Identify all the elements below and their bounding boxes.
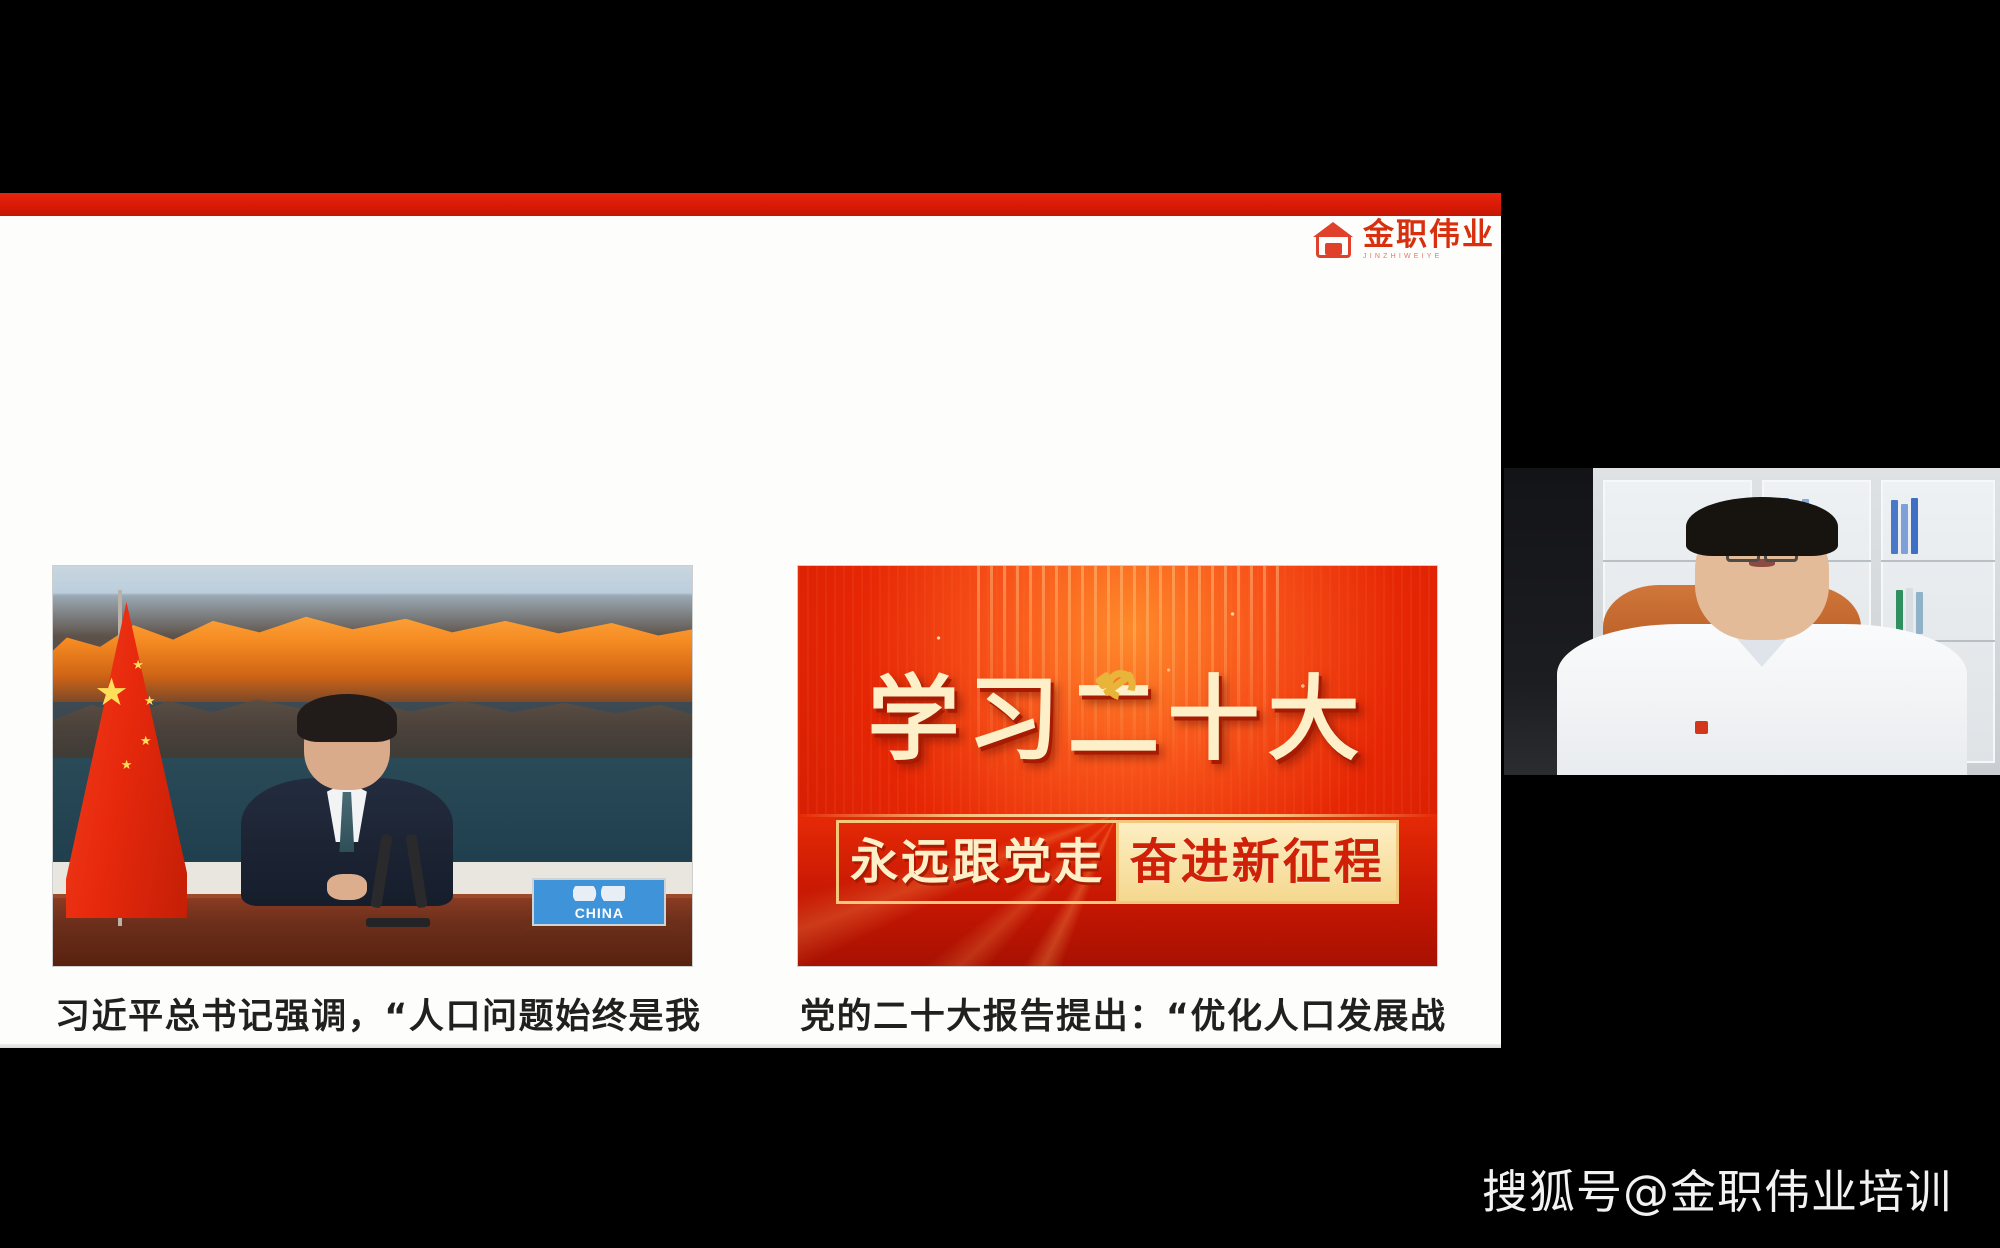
left-caption-text: 习近平总书记强调，“人口问题始终是我国面临的全局性、长期性、战略性问题。” [55, 993, 700, 1048]
screen-root: 金职伟业 JINZHIWEIYE ★ ★ ★ ★ ★ [0, 0, 2000, 1248]
poster-banner: 永远跟党走 奋进新征程 [836, 820, 1398, 904]
nameplate-label: CHINA [575, 905, 624, 924]
brand-logo-text: 金职伟业 JINZHIWEIYE [1363, 219, 1495, 260]
right-caption-text: 党的二十大报告提出：“优化人口发展战略，建立生育支持政策体系，降低生育、养育、教… [800, 993, 1445, 1048]
brand-name-cn: 金职伟业 [1363, 219, 1495, 250]
brand-logo: 金职伟业 JINZHIWEIYE [1313, 219, 1495, 260]
slide-left-column: ★ ★ ★ ★ ★ [52, 565, 693, 967]
left-caption-segment-0: 习近平总书记强调，“人口问题始终是我国面临的 [55, 997, 700, 1048]
party-hammer-sickle-emblem-icon [1095, 661, 1147, 713]
house-logo-icon [1313, 222, 1354, 258]
slide-bottom-edge [0, 1044, 1501, 1048]
presentation-slide: 金职伟业 JINZHIWEIYE ★ ★ ★ ★ ★ [0, 193, 1501, 1048]
brand-name-en: JINZHIWEIYE [1363, 253, 1495, 260]
slide-top-accent-bar [0, 193, 1501, 216]
presenter-figure [1643, 505, 1881, 775]
poster-banner-left: 永远跟党走 [836, 820, 1116, 904]
presenter-webcam-feed[interactable] [1504, 468, 2000, 775]
right-caption-segment-0: 党的二十大报告提出：“优化人口发展战略，建立 [800, 997, 1445, 1048]
party-badge-pin [1695, 721, 1708, 734]
poster-banner-right: 奋进新征程 [1116, 820, 1399, 904]
study-20th-congress-poster: 学习二十大 永远跟党走 奋进新征程 [797, 565, 1438, 967]
country-nameplate: CHINA [532, 878, 666, 926]
channel-watermark: 搜狐号@金职伟业培训 [1482, 1156, 1952, 1222]
xi-jinping-speech-photo: ★ ★ ★ ★ ★ [52, 565, 693, 967]
slide-right-column: 学习二十大 永远跟党走 奋进新征程 [797, 565, 1438, 967]
speaker-figure [264, 702, 430, 902]
